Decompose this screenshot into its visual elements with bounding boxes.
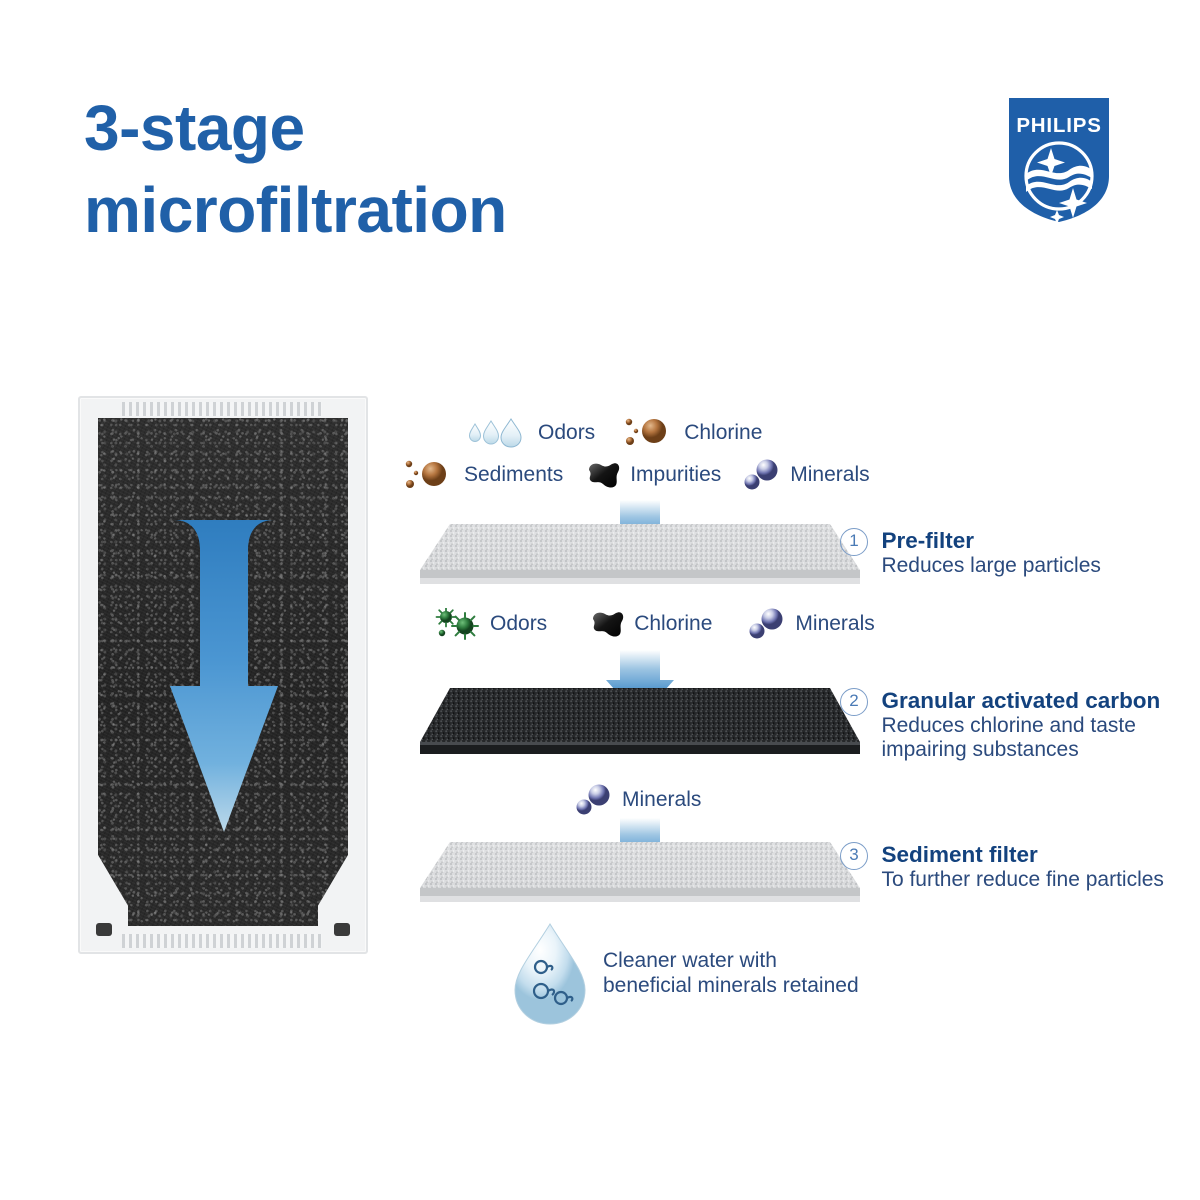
result-caption: Cleaner water with beneficial minerals r…: [603, 948, 859, 998]
contaminant-row-3: Odors Chlorine Minerals: [435, 608, 875, 640]
black-blob-icon: [589, 610, 625, 638]
stage-1-text: 1 Pre-filter Reduces large particles: [840, 528, 1101, 578]
page-title: 3-stage microfiltration: [84, 88, 724, 252]
contaminant-row-4: Minerals: [575, 784, 701, 816]
philips-wordmark: PHILIPS: [1016, 114, 1101, 137]
cartridge-top-grill: [122, 402, 322, 416]
stage-1-description: Reduces large particles: [881, 554, 1100, 578]
stage-3-number: 3: [840, 842, 868, 870]
stage-3-description: To further reduce fine particles: [881, 868, 1163, 892]
brown-spheres-icon: [623, 416, 675, 450]
green-microbe-icon: [435, 608, 481, 640]
contaminant-minerals-spheres: Minerals: [743, 459, 869, 491]
contaminant-label: Impurities: [630, 463, 721, 487]
contaminant-label: Odors: [538, 421, 595, 445]
contaminant-minerals-spheres: Minerals: [748, 608, 874, 640]
stage-2-number: 2: [840, 688, 868, 716]
brown-spheres-icon: [403, 458, 455, 492]
page-title-line-2: microfiltration: [84, 170, 724, 252]
page-title-line-1: 3-stage: [84, 88, 724, 170]
cartridge-foot-right: [334, 923, 350, 936]
contaminant-row-2: Sediments Impurities Minerals: [403, 458, 870, 492]
contaminant-label: Minerals: [795, 612, 874, 636]
mineral-spheres-icon: [748, 608, 786, 640]
result-caption-line-2: beneficial minerals retained: [603, 973, 859, 998]
stage-2-text: 2 Granular activated carbon Reduces chlo…: [840, 688, 1160, 763]
water-drop-icon: [505, 920, 595, 1028]
stage-2-title: Granular activated carbon: [881, 688, 1160, 714]
contaminant-label: Minerals: [790, 463, 869, 487]
contaminant-minerals-spheres: Minerals: [575, 784, 701, 816]
cartridge-foot-left: [96, 923, 112, 936]
filtration-diagram: Odors Chlorine Sediments: [395, 400, 1195, 1060]
contaminant-label: Chlorine: [684, 421, 762, 445]
stage-2-description-line-2: impairing substances: [881, 738, 1160, 762]
contaminant-label: Chlorine: [634, 612, 712, 636]
cartridge-bottom-grill: [122, 934, 322, 948]
stage-3-text: 3 Sediment filter To further reduce fine…: [840, 842, 1164, 892]
stage-1-title: Pre-filter: [881, 528, 1100, 554]
contaminant-chlorine-spheres: Chlorine: [623, 416, 762, 450]
stage-2-description-line-1: Reduces chlorine and taste: [881, 714, 1160, 738]
philips-shield-logo: PHILIPS: [1007, 96, 1111, 224]
contaminant-odors-droplets: Odors: [467, 418, 595, 448]
stage-1-number: 1: [840, 528, 868, 556]
result-caption-line-1: Cleaner water with: [603, 948, 859, 973]
contaminant-label: Sediments: [464, 463, 563, 487]
black-blob-icon: [585, 461, 621, 489]
flow-direction-arrow-icon: [168, 516, 280, 836]
mineral-spheres-icon: [575, 784, 613, 816]
water-filter-cartridge: [78, 396, 368, 954]
contaminant-odors-microbes: Odors: [435, 608, 547, 640]
pre-filter-layer: [420, 500, 860, 595]
sediment-filter-layer: [420, 818, 860, 913]
contaminant-sediments-spheres: Sediments: [403, 458, 563, 492]
activated-carbon-layer: [420, 650, 860, 760]
contaminant-label: Odors: [490, 612, 547, 636]
stage-3-title: Sediment filter: [881, 842, 1163, 868]
contaminant-impurities-blob: Impurities: [585, 461, 721, 489]
contaminant-label: Minerals: [622, 788, 701, 812]
contaminant-chlorine-blob: Chlorine: [589, 610, 712, 638]
water-droplets-icon: [467, 418, 529, 448]
mineral-spheres-icon: [743, 459, 781, 491]
contaminant-row-1: Odors Chlorine: [467, 416, 762, 450]
